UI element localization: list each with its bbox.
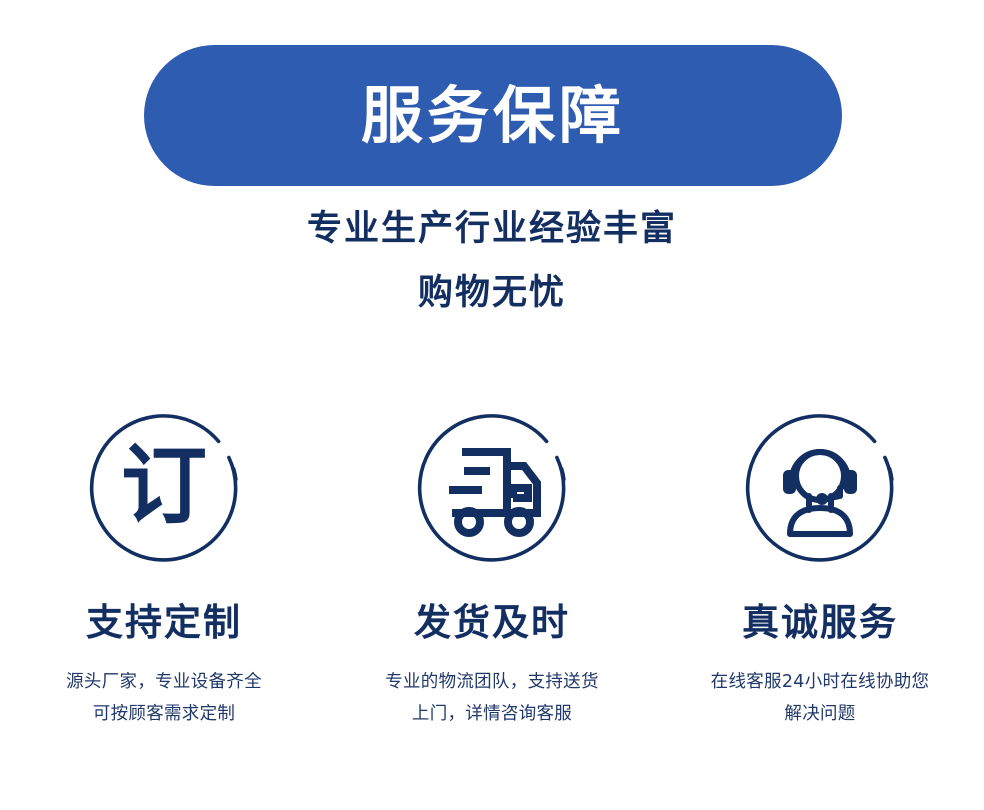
feature-desc-line-2: 上门，详情咨询客服 [385, 698, 599, 730]
headset-support-icon [734, 400, 906, 572]
banner-title: 服务保障 [361, 85, 625, 147]
subtitle-line-2: 购物无忧 [0, 276, 984, 311]
feature-title-shipping: 发货及时 [414, 604, 570, 641]
delivery-truck-icon [406, 400, 578, 572]
feature-desc-line-1: 源头厂家，专业设备齐全 [66, 666, 262, 698]
order-character-icon: 订 [78, 400, 250, 572]
order-glyph: 订 [121, 436, 207, 536]
subtitle-block: 专业生产行业经验丰富 购物无忧 [0, 212, 984, 311]
feature-desc-line-1: 在线客服24小时在线协助您 [711, 666, 930, 698]
feature-item-support: 真诚服务 在线客服24小时在线协助您 解决问题 [656, 400, 984, 731]
service-guarantee-banner: 服务保障 [144, 45, 842, 186]
feature-list: 订 支持定制 源头厂家，专业设备齐全 可按顾客需求定制 [0, 400, 984, 731]
feature-item-customization: 订 支持定制 源头厂家，专业设备齐全 可按顾客需求定制 [0, 400, 328, 731]
feature-desc-support: 在线客服24小时在线协助您 解决问题 [711, 666, 930, 731]
feature-title-customization: 支持定制 [86, 604, 242, 641]
service-guarantee-page: 服务保障 专业生产行业经验丰富 购物无忧 订 支持定制 源头厂家，专业设备齐全 … [0, 0, 984, 810]
feature-desc-shipping: 专业的物流团队，支持送货 上门，详情咨询客服 [385, 666, 599, 731]
feature-title-support: 真诚服务 [742, 604, 898, 641]
feature-desc-line-2: 可按顾客需求定制 [66, 698, 262, 730]
feature-desc-customization: 源头厂家，专业设备齐全 可按顾客需求定制 [66, 666, 262, 731]
feature-desc-line-1: 专业的物流团队，支持送货 [385, 666, 599, 698]
feature-desc-line-2: 解决问题 [711, 698, 930, 730]
subtitle-line-1: 专业生产行业经验丰富 [0, 212, 984, 247]
feature-item-shipping: 发货及时 专业的物流团队，支持送货 上门，详情咨询客服 [328, 400, 656, 731]
